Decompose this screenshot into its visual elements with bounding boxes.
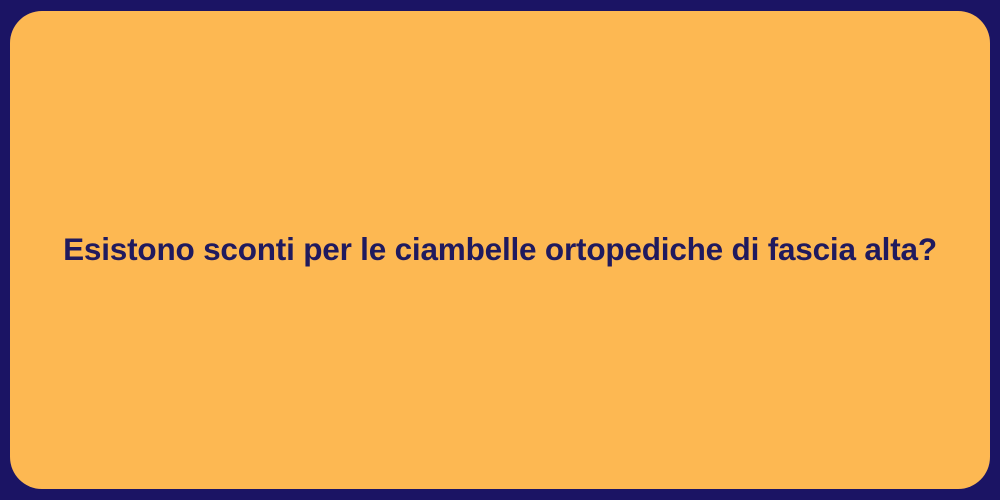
faq-card-panel: Esistono sconti per le ciambelle ortoped…: [10, 11, 990, 489]
faq-question-text: Esistono sconti per le ciambelle ortoped…: [63, 230, 937, 269]
faq-card-frame: Esistono sconti per le ciambelle ortoped…: [0, 0, 1000, 500]
